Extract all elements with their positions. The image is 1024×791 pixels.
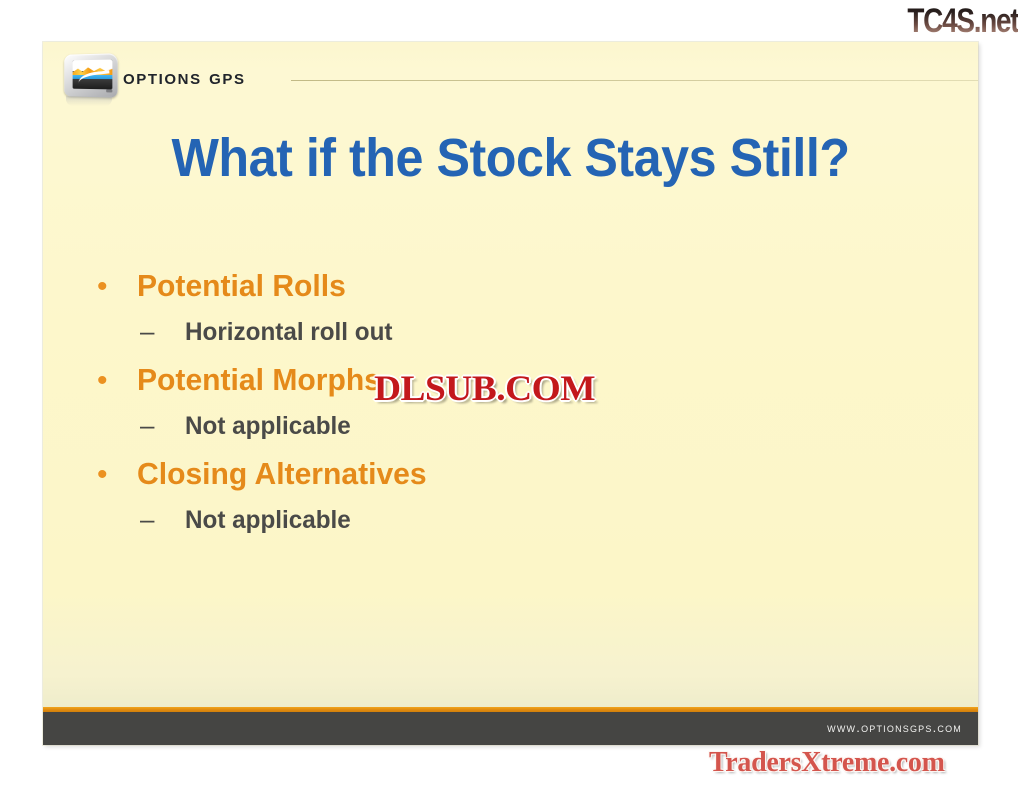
bullet-group: • Potential Rolls – Horizontal roll out xyxy=(93,264,913,352)
bullet-level1: • Closing Alternatives xyxy=(93,452,913,497)
bullet-group: • Closing Alternatives – Not applicable xyxy=(93,452,913,540)
bullet-dash-icon: – xyxy=(140,499,185,539)
bullet-level2-label: Not applicable xyxy=(185,406,351,446)
bullet-level2: – Not applicable xyxy=(93,405,913,446)
header-divider-rule xyxy=(291,80,978,81)
bullet-level1: • Potential Rolls xyxy=(93,264,913,309)
bullet-level2: – Not applicable xyxy=(93,499,913,540)
tradersxtreme-watermark: TradersXtreme.com xyxy=(709,748,945,778)
bullet-dot-icon: • xyxy=(93,265,137,309)
gps-device-screen xyxy=(73,60,113,90)
screenshot-stage: TC4S.net Options GPS xyxy=(0,0,1024,791)
gps-device-body xyxy=(64,53,117,98)
bullet-level1-label: Potential Morphs xyxy=(137,358,381,402)
slide-header: Options GPS xyxy=(43,42,978,102)
bullet-level1-label: Closing Alternatives xyxy=(137,452,427,496)
bullet-level2-label: Not applicable xyxy=(185,500,351,540)
tc4s-brand-mark: TC4S.net xyxy=(907,2,1018,41)
footer-url-label: www.OptionsGPS.com xyxy=(827,720,962,735)
gps-device-button xyxy=(106,89,112,92)
slide-title: What if the Stock Stays Still? xyxy=(76,128,946,188)
bullet-level1-label: Potential Rolls xyxy=(137,264,346,308)
brand-name-label: Options GPS xyxy=(123,66,246,90)
bullet-dash-icon: – xyxy=(140,311,185,351)
gps-device-reflection xyxy=(66,96,112,106)
dlsub-watermark: DLSUB.COM xyxy=(374,370,595,406)
bullet-level2-label: Horizontal roll out xyxy=(185,312,392,352)
bullet-level2: – Horizontal roll out xyxy=(93,311,913,352)
slide-footer-bar: www.OptionsGPS.com xyxy=(43,712,978,745)
bullet-dash-icon: – xyxy=(140,405,185,445)
bullet-dot-icon: • xyxy=(93,359,137,403)
bullet-dot-icon: • xyxy=(93,453,137,497)
gps-device-icon xyxy=(61,52,119,104)
